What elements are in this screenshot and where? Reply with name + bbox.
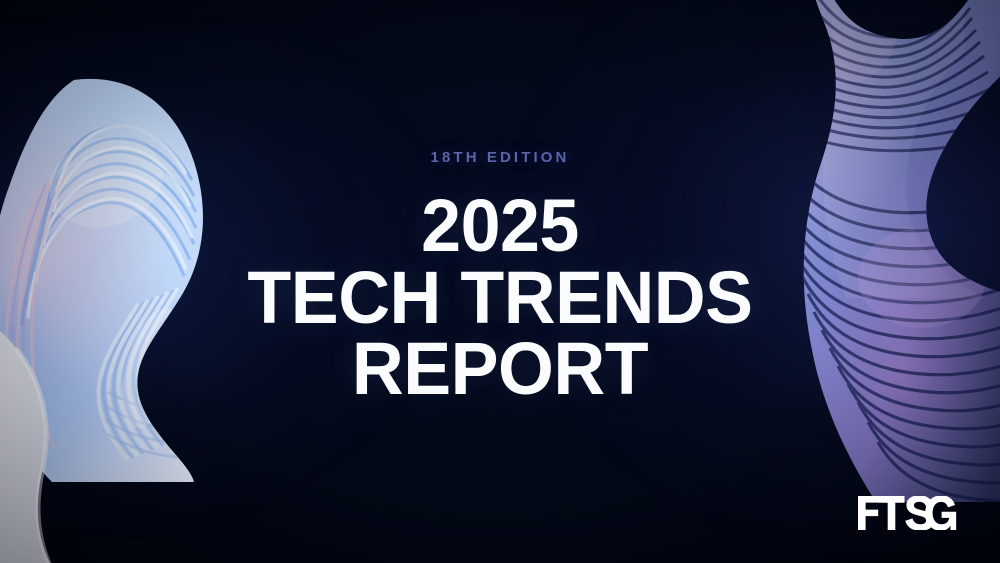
page-title-main: TECH TRENDS [15, 263, 985, 333]
page-title-year: 2025 [15, 191, 985, 261]
page-title-sub: REPORT [15, 334, 985, 404]
ftsg-logo [858, 496, 962, 530]
cover-title-block: 18TH EDITION 2025 TECH TRENDS REPORT [0, 150, 1000, 404]
ftsg-logo-icon [858, 496, 962, 530]
edition-label: 18TH EDITION [0, 150, 1000, 165]
report-cover: 18TH EDITION 2025 TECH TRENDS REPORT [0, 0, 1000, 563]
